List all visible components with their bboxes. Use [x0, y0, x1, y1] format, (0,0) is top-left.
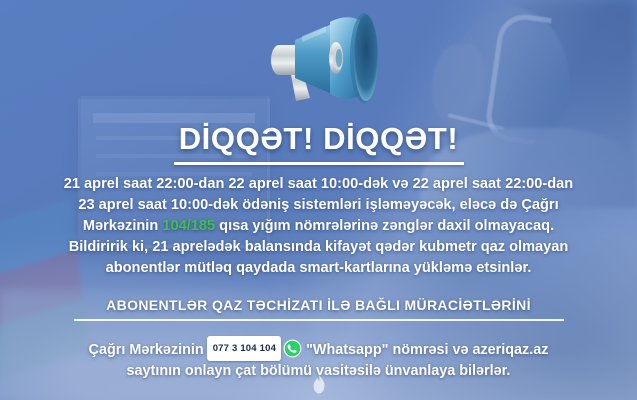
body-line-1: 21 aprel saat 22:00-dan 22 aprel saat 10…: [14, 174, 623, 195]
body-line-2: 23 aprel saat 10:00-dək ödəniş sistemlər…: [14, 195, 623, 216]
banner-content: DİQQƏT! DİQQƏT! 21 aprel saat 22:00-dan …: [0, 0, 637, 400]
flame-logo-icon: [311, 374, 327, 394]
body-line-4: Bildiririk ki, 21 aprelədək balansında k…: [14, 237, 623, 258]
body-line-5: abonentlər mütləq qaydada smart-kartları…: [14, 258, 623, 279]
body-line-3: Mərkəzinin 104/185 qısa yığım nömrələrin…: [14, 216, 623, 237]
contact-middle: "Whatsapp" nömrəsi və azeriqaz.az: [306, 342, 548, 358]
phone-number-badge[interactable]: 077 3 104 104: [207, 336, 281, 361]
subheading: ABONENTLƏR QAZ TƏCHİZATI İLƏ BAĞLI MÜRAC…: [0, 297, 637, 313]
body-line-3-before: Mərkəzinin: [83, 218, 162, 234]
contact-prefix: Çağrı Mərkəzinin: [89, 342, 204, 358]
announcement-banner: DİQQƏT! DİQQƏT! 21 aprel saat 22:00-dan …: [0, 0, 637, 400]
subheading-underline: [74, 319, 564, 321]
contact-line-1: Çağrı Mərkəzinin077 3 104 104"Whatsapp" …: [20, 336, 617, 361]
whatsapp-icon[interactable]: [283, 339, 302, 358]
page-title: DİQQƏT! DİQQƏT!: [0, 121, 637, 157]
body-text: 21 aprel saat 22:00-dan 22 aprel saat 10…: [14, 174, 623, 279]
title-underline: [174, 162, 464, 165]
body-line-3-after: qısa yığım nömrələrinə zənglər daxil olm…: [215, 218, 554, 234]
short-numbers-highlight: 104/185: [162, 218, 215, 234]
